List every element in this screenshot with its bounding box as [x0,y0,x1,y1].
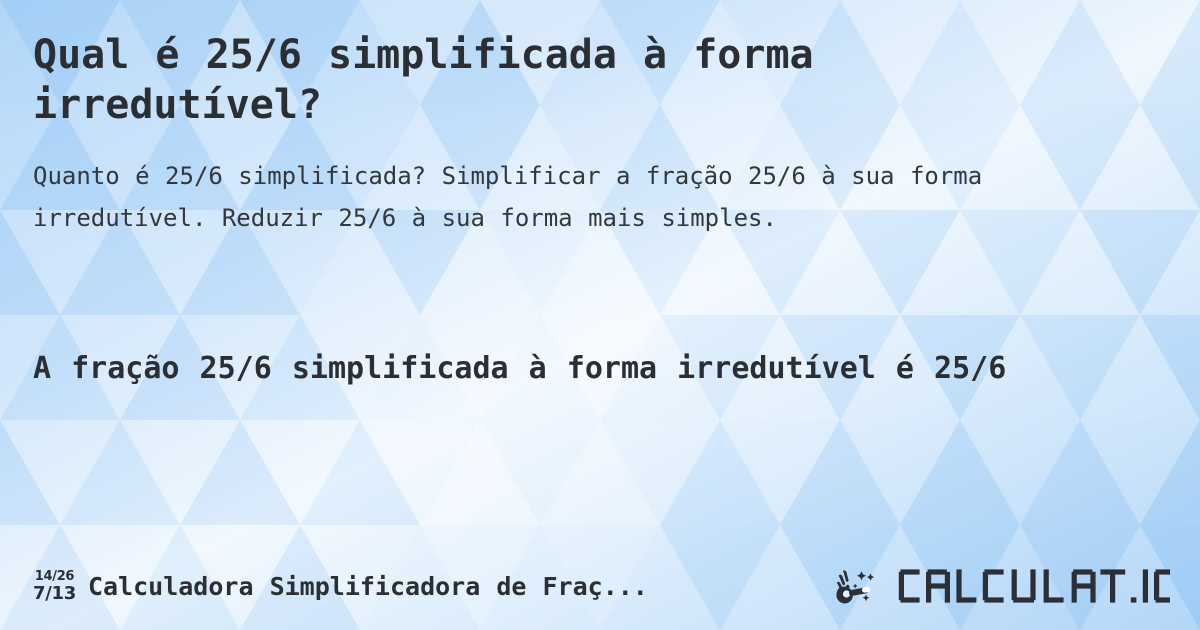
og-image-canvas: Qual é 25/6 simplificada à forma irredut… [0,0,1200,630]
content-area: Qual é 25/6 simplificada à forma irredut… [0,0,1200,630]
brand-wordmark-svg [898,567,1170,605]
brand-logo[interactable]: CALCULAT.IO [836,566,1170,606]
footer: 14/26 7/13 Calculadora Simplificadora de… [0,542,1200,630]
answer-block: A fração 25/6 simplificada à forma irred… [33,345,1166,393]
fraction-badge-numerator: 14/26 [35,570,74,583]
hand-magic-wand-icon [836,566,892,606]
fraction-badge-denominator: 7/13 [33,585,76,603]
fraction-badge-icon: 14/26 7/13 [33,570,76,603]
answer-text: A fração 25/6 simplificada à forma irred… [33,345,1166,393]
page-description: Quanto é 25/6 simplificada? Simplificar … [33,130,1166,239]
footer-left: 14/26 7/13 Calculadora Simplificadora de… [33,570,816,603]
page-title: Qual é 25/6 simplificada à forma irredut… [33,30,1033,130]
brand-wordmark: CALCULAT.IO [898,567,1170,605]
site-name: Calculadora Simplificadora de Fraç... [88,572,648,601]
